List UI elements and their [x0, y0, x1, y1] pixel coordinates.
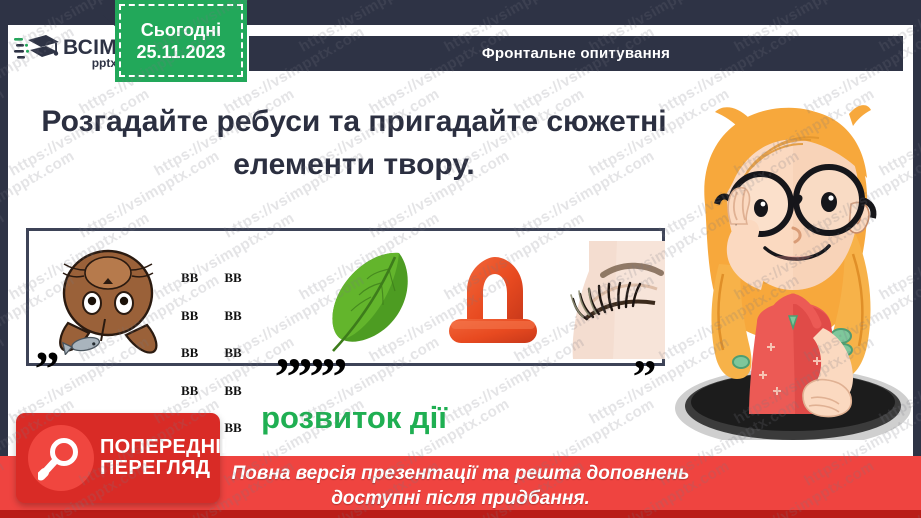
green-leaf-icon — [325, 247, 421, 357]
banner-footer-strip — [0, 510, 921, 518]
watermark-text: https://vsimpptx.com — [0, 0, 7, 56]
magnifier-icon — [28, 425, 94, 491]
slide-root: ВСІМ pptx Сьогодні 25.11.2023 Фронтальне… — [0, 0, 921, 518]
brand-name: ВСІМ — [63, 37, 117, 58]
date-badge-value: 25.11.2023 — [136, 41, 225, 64]
watermark-text: https://vsimpptx.com — [0, 85, 7, 179]
header-title: Фронтальне опитування — [482, 45, 670, 62]
watermark-text: https://vsimpptx.com — [0, 333, 7, 427]
letter-d-shape-icon — [441, 249, 545, 355]
date-badge-label: Сьогодні — [141, 19, 221, 42]
purchase-notice-line1: Повна версія презентації та решта доповн… — [232, 462, 690, 487]
header-bar: Фронтальне опитування — [249, 36, 903, 71]
cat-head-upside-down-icon — [53, 243, 163, 355]
brand-logo-text: ВСІМ pptx — [63, 37, 117, 69]
brand-logo[interactable]: ВСІМ pptx — [14, 30, 126, 76]
girl-in-hole-illustration — [653, 78, 911, 440]
preview-badge[interactable]: ПОПЕРЕДНІЙ ПЕРЕГЛЯД — [16, 413, 220, 503]
purchase-notice-line2: доступні після придбання. — [331, 487, 590, 512]
date-badge: Сьогодні 25.11.2023 — [115, 0, 247, 82]
graduation-cap-icon — [14, 33, 60, 73]
watermark-text: https://vsimpptx.com — [0, 209, 7, 303]
page-title: Розгадайте ребуси та пригадайте сюжетні … — [24, 101, 684, 186]
letter-u-from-vv: ВВ ВВ ВВ ВВ ВВ ВВ ВВ ВВ ВВ ВВ ВВ ВВ ВВ В… — [181, 247, 287, 359]
rebus-panel: „ — [26, 228, 665, 366]
vv-row: ВВ ВВ — [181, 310, 287, 323]
vv-row: ВВ ВВ — [181, 385, 287, 398]
preview-badge-line1: ПОПЕРЕДНІЙ — [100, 437, 236, 458]
vv-row: ВВ ВВ — [181, 272, 287, 285]
vv-row: ВВ ВВ — [181, 347, 287, 360]
preview-badge-text: ПОПЕРЕДНІЙ ПЕРЕГЛЯД — [100, 437, 236, 479]
preview-badge-line2: ПЕРЕГЛЯД — [100, 458, 236, 479]
